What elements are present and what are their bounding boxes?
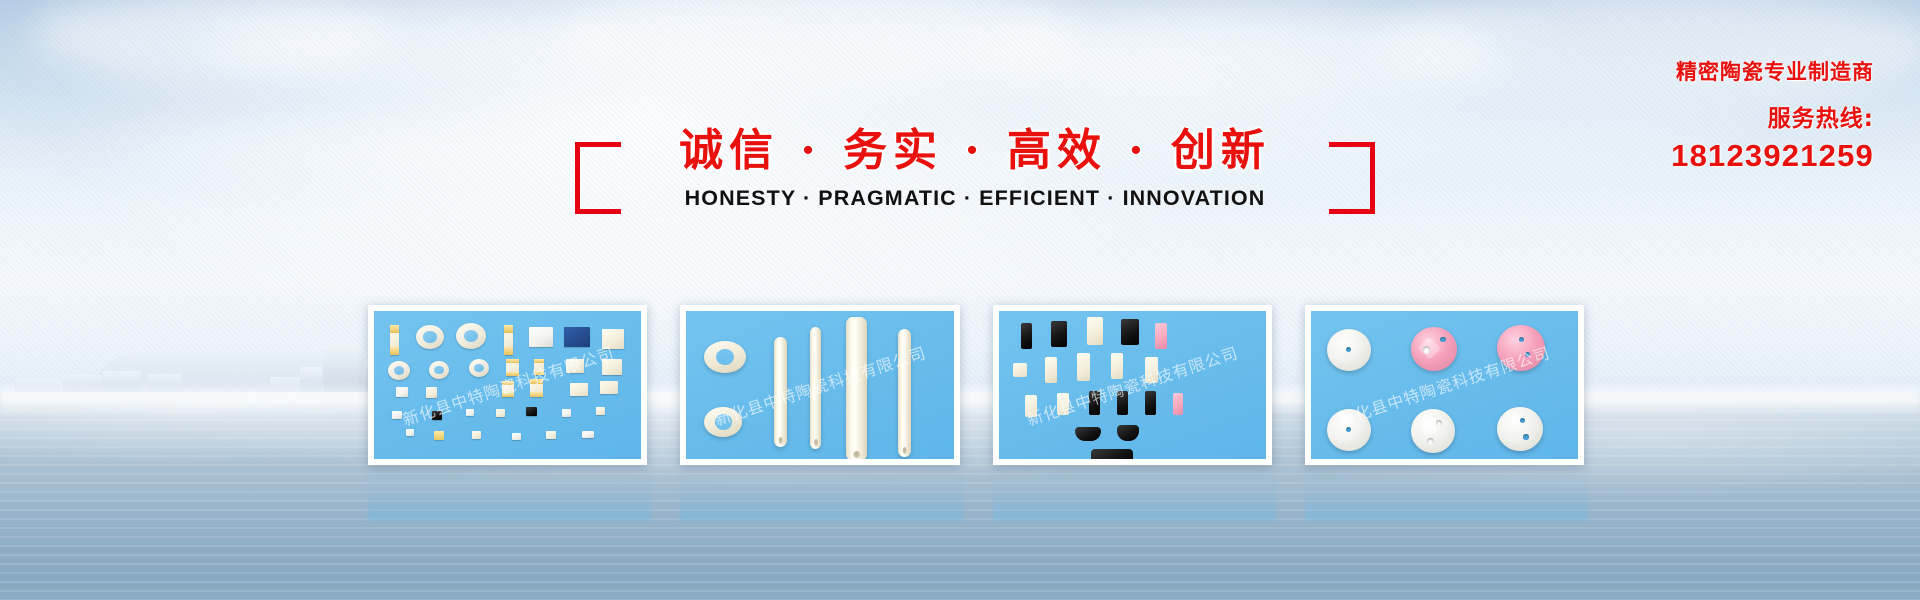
slogan-block: 诚信 · 务实 · 高效 · 创新 HONESTY · PRAGMATIC · … xyxy=(575,120,1375,230)
product-panel-smd-chips[interactable]: 新化县中特陶瓷科技有限公司 xyxy=(368,305,647,465)
slogan-chinese: 诚信 · 务实 · 高效 · 创新 xyxy=(629,120,1321,182)
product-image-tubes-rods: 新化县中特陶瓷科技有限公司 xyxy=(686,311,953,459)
contact-info-block: 精密陶瓷专业制造商 服务热线: 18123921259 xyxy=(1671,56,1874,174)
product-panel-shaped-parts[interactable]: 新化县中特陶瓷科技有限公司 xyxy=(993,305,1272,465)
hotline-label: 服务热线: xyxy=(1671,99,1874,133)
product-panel-discs-caps[interactable]: 新化县中特陶瓷科技有限公司 xyxy=(1305,305,1584,465)
product-image-shaped-parts: 新化县中特陶瓷科技有限公司 xyxy=(999,311,1266,459)
panel-watermark: 新化县中特陶瓷科技有限公司 xyxy=(1023,339,1241,430)
hero-banner: 诚信 · 务实 · 高效 · 创新 HONESTY · PRAGMATIC · … xyxy=(0,0,1920,600)
product-image-discs-caps: 新化县中特陶瓷科技有限公司 xyxy=(1311,311,1578,459)
product-panel-gallery: 新化县中特陶瓷科技有限公司 新化县中特陶瓷科技有限公司 xyxy=(368,305,1584,465)
hotline-number[interactable]: 18123921259 xyxy=(1671,138,1874,174)
product-panel-tubes-rods[interactable]: 新化县中特陶瓷科技有限公司 xyxy=(680,305,959,465)
slogan-english: HONESTY · PRAGMATIC · EFFICIENT · INNOVA… xyxy=(575,186,1375,211)
product-image-smd-chips: 新化县中特陶瓷科技有限公司 xyxy=(374,311,641,459)
company-tagline: 精密陶瓷专业制造商 xyxy=(1671,56,1874,86)
